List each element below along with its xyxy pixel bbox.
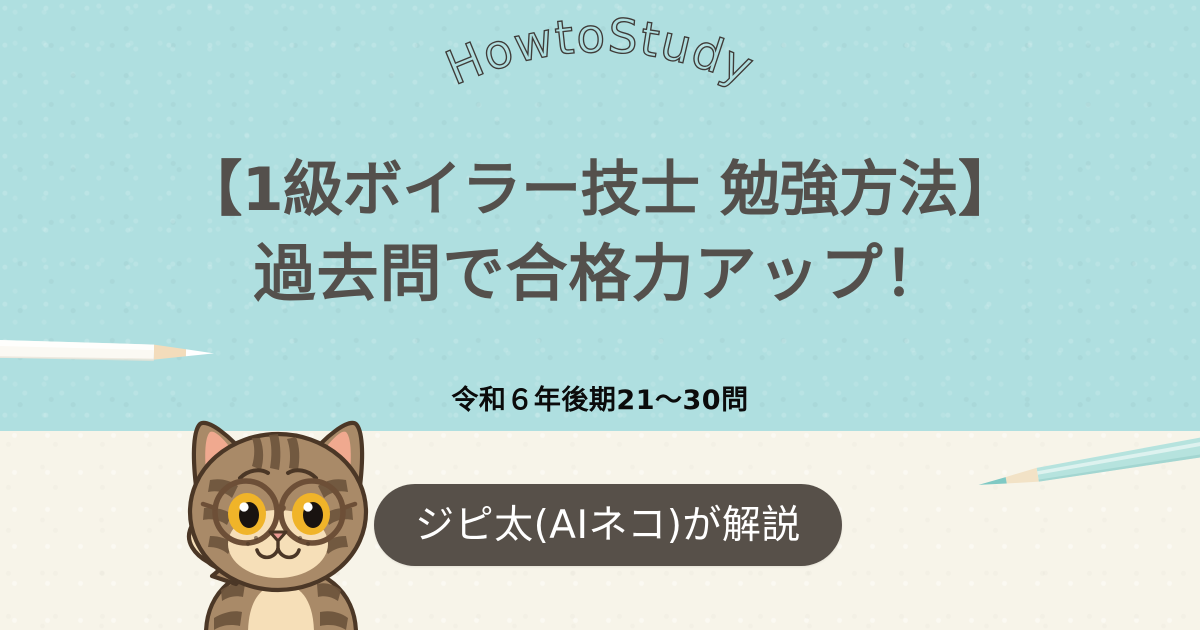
brand-wordmark: HowtoStudy	[380, 8, 820, 128]
thumbnail-canvas: HowtoStudy 【1級ボイラー技士 勉強方法】 過去問で合格力アップ！ 令…	[0, 0, 1200, 630]
mascot-speech-bubble: ジピ太(AIネコ)が解説	[374, 484, 842, 566]
cat-mascot-icon	[148, 404, 408, 630]
white-pencil-icon	[0, 336, 218, 367]
headline-line-1: 【1級ボイラー技士 勉強方法】	[0, 148, 1200, 232]
brand-wordmark-text: HowtoStudy	[438, 9, 762, 97]
headline-block: 【1級ボイラー技士 勉強方法】 過去問で合格力アップ！	[0, 148, 1200, 316]
headline-line-2: 過去問で合格力アップ！	[0, 232, 1200, 316]
mascot-speech-text: ジピ太(AIネコ)が解説	[415, 506, 801, 545]
